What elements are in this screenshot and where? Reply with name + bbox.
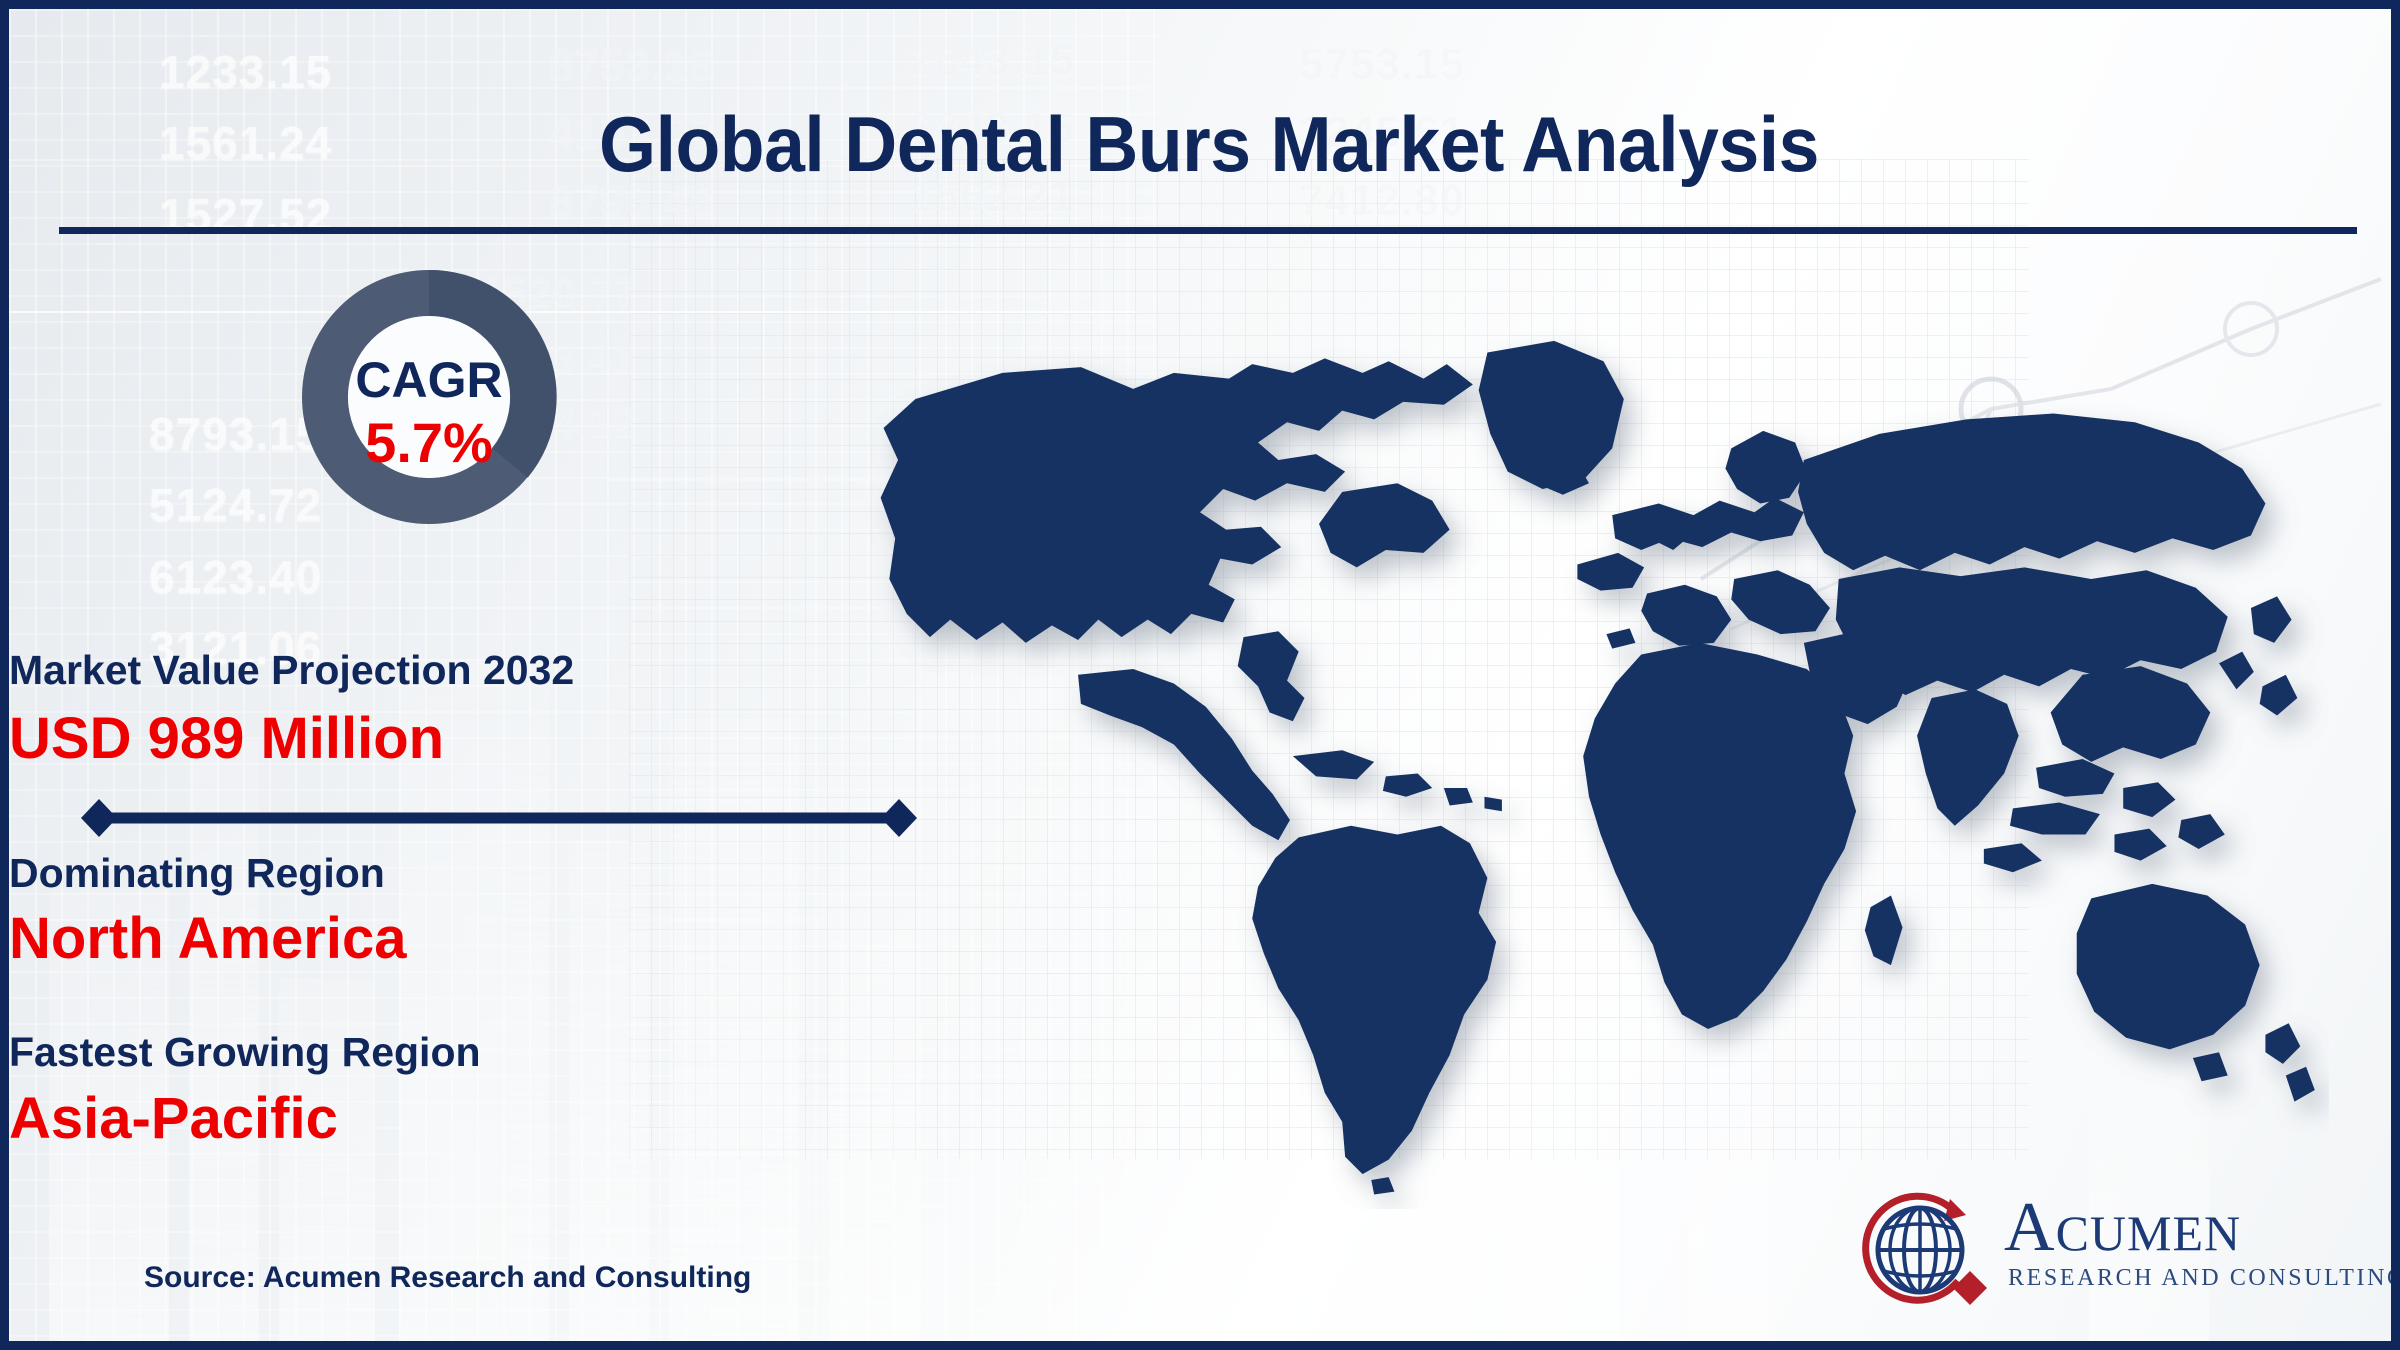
logo-wordmark: ACUMEN RESEARCH AND CONSULTING — [2004, 1193, 2400, 1292]
red-diamond-icon — [1953, 1271, 1987, 1305]
cagr-value: 5.7% — [299, 415, 559, 471]
infographic-root: 1233.15 1561.24 1527.52 8753.15 4153.27 … — [0, 0, 2400, 1350]
fastest-growing-region-value: Asia-Pacific — [9, 1089, 989, 1150]
header-divider — [59, 227, 2357, 234]
logo-tagline: RESEARCH AND CONSULTING — [2008, 1265, 2400, 1292]
logo-brand-rest: CUMEN — [2056, 1205, 2242, 1261]
market-value-projection-value: USD 989 Million — [9, 709, 989, 770]
bg-ticker-col5: 8793.15 5124.72 6123.40 3121.06 — [149, 399, 322, 684]
fastest-growing-region-label: Fastest Growing Region — [9, 1031, 989, 1074]
page-title: Global Dental Burs Market Analysis — [81, 99, 2337, 190]
logo-brand: ACUMEN — [2004, 1193, 2400, 1263]
cagr-donut-chart: CAGR 5.7% — [299, 267, 559, 527]
dominating-region-value: North America — [9, 909, 989, 970]
source-attribution: Source: Acumen Research and Consulting — [144, 1261, 751, 1295]
world-map — [849, 309, 2329, 1209]
dominating-region-label: Dominating Region — [9, 852, 989, 895]
arrow-divider — [69, 795, 929, 841]
logo-brand-initial: A — [2004, 1189, 2056, 1266]
market-value-projection-label: Market Value Projection 2032 — [9, 649, 989, 692]
acumen-logo: ACUMEN RESEARCH AND CONSULTING — [1854, 1189, 2354, 1324]
cagr-label: CAGR — [299, 355, 559, 405]
globe-icon — [1854, 1189, 1999, 1319]
